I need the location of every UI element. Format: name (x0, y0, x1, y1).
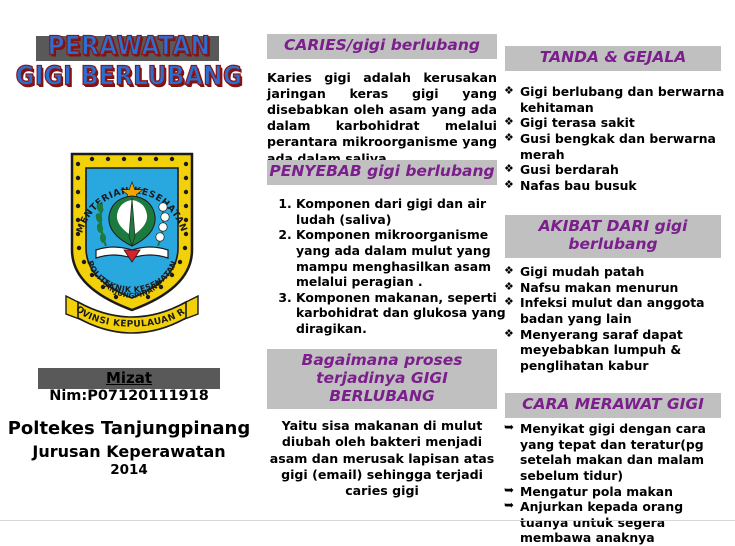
diamond-bullet-icon: ❖ (504, 84, 514, 98)
list-item-label: Gigi mudah patah (520, 264, 644, 279)
list-item: Komponen makanan, seperti karbohidrat da… (296, 290, 524, 337)
page-title-line2: GIGI BERLUBANG (0, 62, 258, 92)
author-name: Mizat (38, 368, 220, 389)
diamond-bullet-icon: ❖ (504, 264, 514, 278)
akibat-header-line1: AKIBAT DARI gigi (507, 218, 719, 236)
section-header-tanda-gejala: TANDA & GEJALA (505, 46, 721, 71)
diamond-bullet-icon: ❖ (504, 280, 514, 294)
list-item-label: Menyikat gigi dengan cara yang tepat dan… (520, 421, 706, 483)
section-header-caries: CARIES/gigi berlubang (267, 34, 497, 59)
akibat-list: ❖Gigi mudah patah ❖Nafsu makan menurun ❖… (504, 264, 730, 373)
section-header-akibat: AKIBAT DARI gigi berlubang (505, 215, 721, 258)
leaf-bullet-icon: ➥ (504, 484, 514, 496)
list-item: ❖Gusi bengkak dan berwarna merah (504, 131, 730, 162)
list-item-label: Gusi bengkak dan berwarna merah (520, 131, 716, 162)
list-item-label: Infeksi mulut dan anggota badan yang lai… (520, 295, 705, 326)
list-item-label: Gigi berlubang dan berwarna kehitaman (520, 84, 724, 115)
logo-svg: KEMENTERIAN KESEHATAN RI (62, 138, 202, 338)
leaf-bullet-icon: ➥ (504, 421, 514, 433)
department-name: Jurusan Keperawatan (0, 442, 258, 461)
list-item-label: Anjurkan kepada orang tuanya untuk seger… (520, 499, 683, 545)
list-item: ❖Gigi terasa sakit (504, 115, 730, 131)
author-name-band: Mizat (38, 368, 220, 389)
leaflet-page: PERAWATAN GIGI BERLUBANG (0, 0, 735, 535)
left-column: PERAWATAN GIGI BERLUBANG (0, 0, 258, 535)
list-item-label: Nafsu makan menurun (520, 280, 678, 295)
list-item: ➥Mengatur pola makan (504, 484, 734, 500)
list-item-label: Menyerang saraf dapat meyebabkan lumpuh … (520, 327, 683, 373)
list-item: Komponen dari gigi dan air ludah (saliva… (296, 196, 524, 227)
diamond-bullet-icon: ❖ (504, 327, 514, 341)
list-item-label: Gusi berdarah (520, 162, 619, 177)
diamond-bullet-icon: ❖ (504, 162, 514, 176)
middle-column: CARIES/gigi berlubang Karies gigi adalah… (258, 0, 498, 535)
list-item: ❖Nafsu makan menurun (504, 280, 730, 296)
proses-header-line1: Bagaimana proses (269, 352, 495, 370)
list-item-label: Mengatur pola makan (520, 484, 673, 499)
poltekkes-logo: KEMENTERIAN KESEHATAN RI (62, 138, 202, 338)
section-header-penyebab: PENYEBAB gigi berlubang (267, 160, 497, 185)
list-item-label: Gigi terasa sakit (520, 115, 635, 130)
leaf-bullet-icon: ➥ (504, 499, 514, 511)
section-header-cara-merawat: CARA MERAWAT GIGI (505, 393, 721, 418)
list-item: ❖Menyerang saraf dapat meyebabkan lumpuh… (504, 327, 730, 374)
tanda-gejala-list: ❖Gigi berlubang dan berwarna kehitaman ❖… (504, 84, 730, 193)
list-item: ❖Gigi mudah patah (504, 264, 730, 280)
penyebab-list: Komponen dari gigi dan air ludah (saliva… (270, 196, 524, 337)
section-body-proses: Yaitu sisa makanan di mulut diubah oleh … (265, 418, 499, 500)
section-body-caries: Karies gigi adalah kerusakan jaringan ke… (267, 70, 497, 167)
cara-merawat-list: ➥Menyikat gigi dengan cara yang tepat da… (504, 421, 734, 546)
proses-header-line3: BERLUBANG (269, 388, 495, 406)
right-column: TANDA & GEJALA ❖Gigi berlubang dan berwa… (498, 0, 735, 535)
section-header-proses: Bagaimana proses terjadinya GIGI BERLUBA… (267, 349, 497, 409)
list-item: ➥Menyikat gigi dengan cara yang tepat da… (504, 421, 734, 484)
list-item: ➥Anjurkan kepada orang tuanya untuk sege… (504, 499, 734, 546)
list-item: Komponen mikroorganisme yang ada dalam m… (296, 227, 524, 290)
institution-name: Poltekes Tanjungpinang (0, 418, 258, 439)
page-title-line1: PERAWATAN (0, 32, 258, 62)
diamond-bullet-icon: ❖ (504, 295, 514, 309)
proses-header-line2: terjadinya GIGI (269, 370, 495, 388)
list-item-label: Nafas bau busuk (520, 178, 637, 193)
akibat-header-line2: berlubang (507, 236, 719, 254)
diamond-bullet-icon: ❖ (504, 178, 514, 192)
list-item: ❖Gigi berlubang dan berwarna kehitaman (504, 84, 730, 115)
author-nim: Nim:P07120111918 (0, 388, 258, 404)
page-bottom-edge (0, 520, 735, 521)
list-item: ❖Infeksi mulut dan anggota badan yang la… (504, 295, 730, 326)
page-title-wordart: PERAWATAN GIGI BERLUBANG (0, 32, 258, 93)
list-item: ❖Gusi berdarah (504, 162, 730, 178)
diamond-bullet-icon: ❖ (504, 131, 514, 145)
diamond-bullet-icon: ❖ (504, 115, 514, 129)
year-text: 2014 (0, 462, 258, 478)
list-item: ❖Nafas bau busuk (504, 178, 730, 194)
